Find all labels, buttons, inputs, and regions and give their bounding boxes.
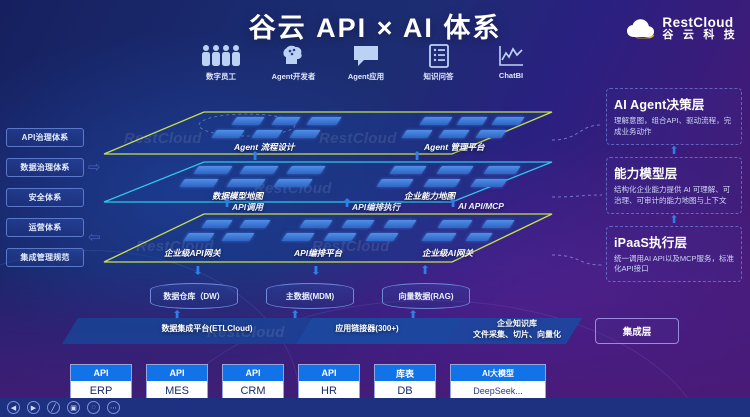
plane-chip [437,220,472,228]
plane-chip [239,220,270,228]
source-card-type: 库表 [375,365,435,381]
layer-card-ai-agent[interactable]: AI Agent决策层 理解意图，组合API、驱动流程，完成业务动作 [606,88,742,145]
plane-agent-layer: RestCloud RestCloud Agent 流程设计 Agent 管理平… [104,110,554,158]
plane-chip [193,166,232,174]
line-chart-icon [476,42,546,68]
persona-label: Agent应用 [331,71,401,82]
kb-title: 企业知识库 [452,319,582,330]
prev-icon[interactable]: ◀ [7,401,20,414]
plane-chip [423,179,460,187]
plane-chip [299,220,332,228]
plane-chip [273,179,312,187]
layer-card-desc: 统一调用AI API以及MCP服务，标准化API接口 [614,254,734,276]
plane-chip [286,166,325,174]
integration-knowledge-base[interactable]: 企业知识库 文件采集、切片、向量化 [452,319,582,341]
plane-group-label: 企业级API网关 [164,247,221,259]
kb-subtitle: 文件采集、切片、向量化 [452,330,582,341]
flow-arrow-up-icon: ⬆ [420,264,425,276]
pen-icon[interactable]: ╱ [47,401,60,414]
source-card-hr[interactable]: API HR [298,364,360,401]
source-card-llm[interactable]: AI大模型 DeepSeek... [450,364,546,401]
persona-row: 数字员工 Agent开发者 Agent应用 [186,42,546,82]
plane-chip [365,233,398,241]
list-icon [404,42,474,68]
plane-chip [211,130,244,138]
sidebar-item-operations[interactable]: 运营体系 [6,218,84,237]
plane-chip [481,220,514,228]
sidebar-item-data-governance[interactable]: 数据治理体系 [6,158,84,177]
next-icon[interactable]: ▶ [27,401,40,414]
layer-card-desc: 理解意图，组合API、驱动流程，完成业务动作 [614,116,734,138]
plane-group-label: Agent 管理平台 [424,141,484,153]
slide-canvas: 谷云 API × AI 体系 RestCloud 谷 云 科 技 [0,0,750,417]
persona-digital-employee: 数字员工 [186,42,256,82]
plane-chip [323,233,356,241]
plane-chip [483,166,520,174]
source-card-type: API [147,365,207,381]
datastore-rag[interactable]: 向量数据(RAG) [382,283,470,309]
plane-watermark: RestCloud [319,130,397,147]
plane-chip [306,117,341,125]
plane-chip [475,130,506,138]
datastore-mdm[interactable]: 主数据(MDM) [266,283,354,309]
plane-chip [341,220,374,228]
people-group-icon [186,42,256,68]
flow-arrow-up-icon: ⬆ [222,197,227,209]
plane-chip [201,220,232,228]
more-icon[interactable]: ⋯ [107,401,120,414]
panel-connector-icon: ⬆ [606,147,742,155]
bottom-toolbar: ◀ ▶ ╱ ▣ ◌ ⋯ [0,398,750,417]
integration-connectors[interactable]: 应用链接器(300+) [297,324,437,335]
plane-chip [183,233,214,241]
plane-chip [179,179,218,187]
source-card-type: AI大模型 [451,365,545,381]
persona-label: 知识问答 [404,71,474,82]
flow-arrow-down-icon: ⬆ [198,264,203,276]
speech-bubble-icon [331,42,401,68]
plane-chip [383,220,416,228]
plane-group-label: 企业级AI网关 [422,247,473,259]
flow-arrow-down-icon: ⬆ [316,264,321,276]
layer-card-ipaas[interactable]: iPaaS执行层 统一调用AI API以及MCP服务，标准化API接口 [606,226,742,283]
cloud-icon [626,17,656,41]
layer-card-desc: 结构化企业能力提供 AI 可理解、可治理、可审计的能力地图与上下文 [614,185,734,207]
plane-watermark: RestCloud [124,130,202,147]
layer-description-panel: AI Agent决策层 理解意图，组合API、驱动流程，完成业务动作 ⬆ 能力模… [606,88,742,287]
plane-chip [226,179,265,187]
persona-agent-app: Agent应用 [331,42,401,82]
plane-chip [436,166,473,174]
brain-icon [259,42,329,68]
sidebar-item-security[interactable]: 安全体系 [6,188,84,207]
integration-etlcloud[interactable]: 数据集成平台(ETLCloud) [132,324,282,335]
plane-gateway-layer: RestCloud RestCloud 企业级API网关 API编排平台 企业级… [104,212,554,268]
source-card-type: API [223,365,283,381]
integration-layer-badge: 集成层 [595,318,679,344]
source-card-mes[interactable]: API MES [146,364,208,401]
persona-chatbi: ChatBI [476,42,546,82]
plane-chip [239,166,278,174]
plane-chip [231,117,264,125]
plane-chip [491,117,524,125]
arrow-right-icon: ⇨ [88,158,101,176]
flow-arrow-up-icon: ⬆ [448,197,453,209]
sidebar-item-api-governance[interactable]: API治理体系 [6,128,84,147]
persona-knowledge-qa: 知识问答 [404,42,474,82]
persona-label: 数字员工 [186,71,256,82]
plane-chip [470,179,507,187]
panel-connector-icon: ⬆ [606,216,742,224]
persona-label: ChatBI [476,71,546,80]
plane-chip [438,130,469,138]
plane-chip [389,166,426,174]
plane-sublabel-ai-api-mcp: AI API/MCP [458,201,504,211]
arrow-left-icon: ⇦ [88,228,101,246]
source-systems-row: API ERP API MES API CRM API HR 库表 DB AI大… [70,364,610,401]
logo-text-cn: 谷 云 科 技 [662,30,738,42]
plane-chip [251,130,282,138]
sidebar-item-integration-spec[interactable]: 集成管理规范 [6,248,84,267]
layer-card-title: AI Agent决策层 [614,94,734,113]
copy-icon[interactable]: ▣ [67,401,80,414]
integration-bar: RestCloud 数据集成平台(ETLCloud) 应用链接器(300+) 企… [62,316,682,346]
plane-chip [421,233,456,241]
layer-card-title: iPaaS执行层 [614,232,734,251]
datastore-dw[interactable]: 数据仓库（DW） [150,283,238,309]
datastore-row: 数据仓库（DW） 主数据(MDM) 向量数据(RAG) [150,283,470,309]
plane-chip [401,130,432,138]
source-card-db[interactable]: 库表 DB [374,364,436,401]
brand-logo: RestCloud 谷 云 科 技 [626,16,738,42]
plane-group-label: API编排平台 [294,247,342,259]
governance-column: API治理体系 数据治理体系 安全体系 运营体系 集成管理规范 [6,128,84,278]
plane-chip [376,179,413,187]
plane-chip [419,117,452,125]
source-card-erp[interactable]: API ERP [70,364,132,401]
persona-label: Agent开发者 [259,71,329,82]
flow-arrow-up-icon: ⬆ [342,197,347,209]
source-card-crm[interactable]: API CRM [222,364,284,401]
plane-chip [221,233,254,241]
plane-chip [289,130,320,138]
layer-card-capability-model[interactable]: 能力模型层 结构化企业能力提供 AI 可理解、可治理、可审计的能力地图与上下文 [606,157,742,214]
source-card-type: API [71,365,131,381]
search-icon[interactable]: ◌ [87,401,100,414]
plane-chip [281,233,314,241]
plane-chip [456,117,487,125]
layer-card-title: 能力模型层 [614,163,734,182]
source-card-type: API [299,365,359,381]
persona-agent-developer: Agent开发者 [259,42,329,82]
plane-group-label: Agent 流程设计 [234,141,294,153]
